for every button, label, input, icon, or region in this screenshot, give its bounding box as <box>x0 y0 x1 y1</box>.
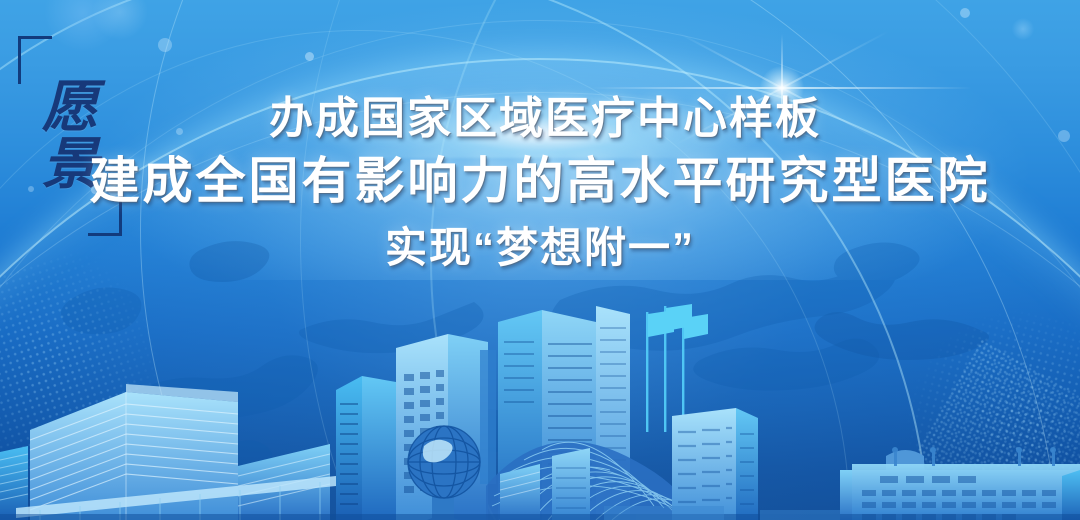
bokeh-4 <box>305 52 314 61</box>
building-midright-mid <box>552 448 590 520</box>
headline-line-1: 办成国家区域医疗中心样板 <box>0 92 1080 146</box>
building-far-right <box>1062 470 1080 520</box>
bokeh-6 <box>960 8 970 18</box>
cityscape-illustration: 福建医科大学附属第一医院 附 属 医 院 福建医科大学附属第一医院 <box>0 270 1080 520</box>
bokeh-3 <box>158 38 172 52</box>
building-tower-slab <box>336 376 396 520</box>
headline-block: 办成国家区域医疗中心样板 建成全国有影响力的高水平研究型医院 实现“梦想附一” <box>0 92 1080 276</box>
vision-banner: 愿 景 办成国家区域医疗中心样板 建成全国有影响力的高水平研究型医院 实现“梦想… <box>0 0 1080 520</box>
building-right-rect-tower <box>672 408 758 520</box>
building-right-hospital-block <box>840 447 1080 520</box>
bokeh-5 <box>1012 18 1034 40</box>
bokeh-2 <box>92 0 148 40</box>
headline-line-3: 实现“梦想附一” <box>0 220 1080 276</box>
headline-line-2: 建成全国有影响力的高水平研究型医院 <box>0 150 1080 212</box>
